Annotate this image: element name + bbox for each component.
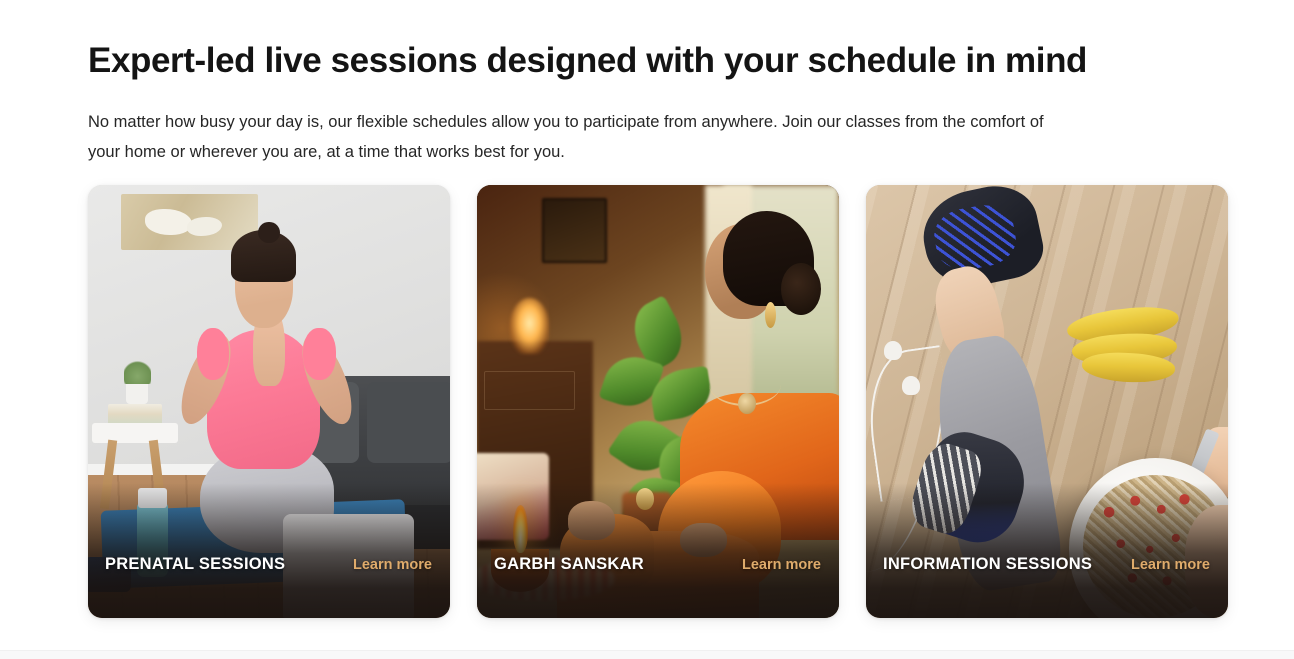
session-cards-row: PRENATAL SESSIONS Learn more bbox=[88, 185, 1228, 618]
session-card-garbh-sanskar[interactable]: GARBH SANSKAR Learn more bbox=[477, 185, 839, 618]
card-title: GARBH SANSKAR bbox=[494, 555, 644, 574]
card-footer: INFORMATION SESSIONS Learn more bbox=[866, 546, 1228, 618]
session-card-prenatal[interactable]: PRENATAL SESSIONS Learn more bbox=[88, 185, 450, 618]
card-footer: PRENATAL SESSIONS Learn more bbox=[88, 546, 450, 618]
section-header: Expert-led live sessions designed with y… bbox=[88, 38, 1228, 167]
page-title: Expert-led live sessions designed with y… bbox=[88, 38, 1228, 84]
learn-more-link[interactable]: Learn more bbox=[353, 557, 432, 573]
card-title: INFORMATION SESSIONS bbox=[883, 555, 1092, 574]
learn-more-link[interactable]: Learn more bbox=[1131, 557, 1210, 573]
page-bottom-strip bbox=[0, 650, 1294, 659]
session-card-information[interactable]: INFORMATION SESSIONS Learn more bbox=[866, 185, 1228, 618]
page-root: Expert-led live sessions designed with y… bbox=[0, 0, 1294, 659]
card-title: PRENATAL SESSIONS bbox=[105, 555, 285, 574]
card-footer: GARBH SANSKAR Learn more bbox=[477, 546, 839, 618]
learn-more-link[interactable]: Learn more bbox=[742, 557, 821, 573]
section-description: No matter how busy your day is, our flex… bbox=[88, 107, 1048, 167]
